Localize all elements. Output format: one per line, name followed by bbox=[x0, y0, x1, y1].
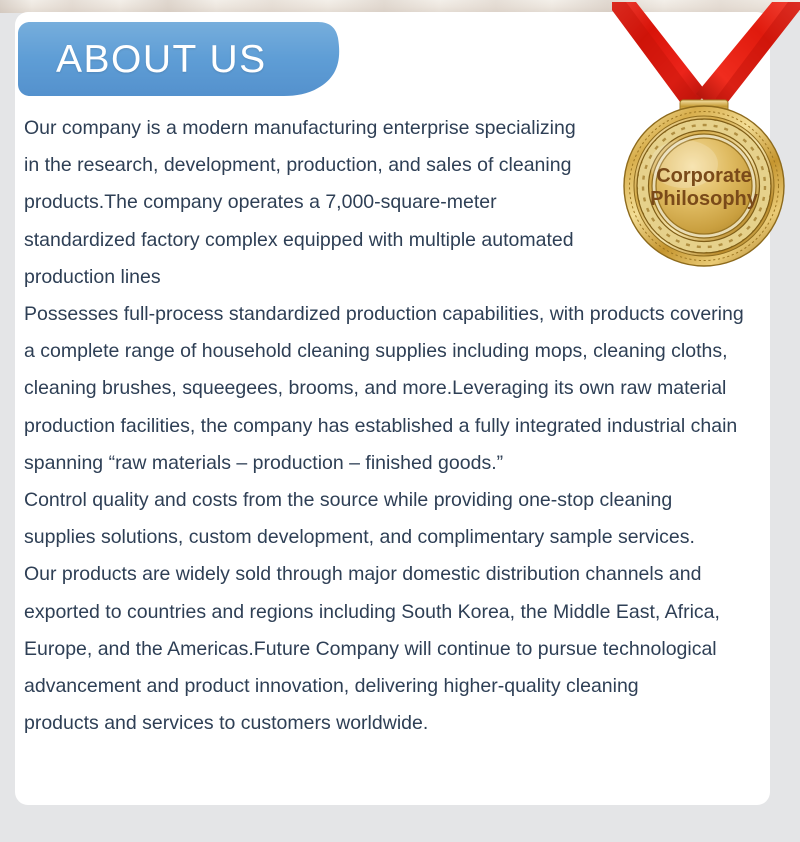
text-line: production lines bbox=[24, 259, 776, 296]
page-title: ABOUT US bbox=[56, 22, 356, 98]
text-line: Possesses full-process standardized prod… bbox=[24, 296, 776, 333]
text-line: Control quality and costs from the sourc… bbox=[24, 482, 776, 519]
about-us-body: Our company is a modern manufacturing en… bbox=[24, 110, 776, 742]
text-line: Our products are widely sold through maj… bbox=[24, 556, 776, 593]
text-line: Europe, and the Americas.Future Company … bbox=[24, 631, 776, 668]
text-line: spanning “raw materials – production – f… bbox=[24, 445, 776, 482]
paragraph-3: Control quality and costs from the sourc… bbox=[24, 482, 776, 742]
text-line: Our company is a modern manufacturing en… bbox=[24, 110, 776, 147]
text-line: exported to countries and regions includ… bbox=[24, 594, 776, 631]
text-line: products and services to customers world… bbox=[24, 705, 776, 742]
text-line: a complete range of household cleaning s… bbox=[24, 333, 776, 370]
paragraph-2: Possesses full-process standardized prod… bbox=[24, 296, 776, 482]
text-line: advancement and product innovation, deli… bbox=[24, 668, 776, 705]
text-line: in the research, development, production… bbox=[24, 147, 776, 184]
text-line: cleaning brushes, squeegees, brooms, and… bbox=[24, 370, 776, 407]
text-line: production facilities, the company has e… bbox=[24, 408, 776, 445]
text-line: products.The company operates a 7,000-sq… bbox=[24, 184, 776, 221]
text-line: supplies solutions, custom development, … bbox=[24, 519, 776, 556]
paragraph-1: Our company is a modern manufacturing en… bbox=[24, 110, 776, 296]
text-line: standardized factory complex equipped wi… bbox=[24, 222, 776, 259]
